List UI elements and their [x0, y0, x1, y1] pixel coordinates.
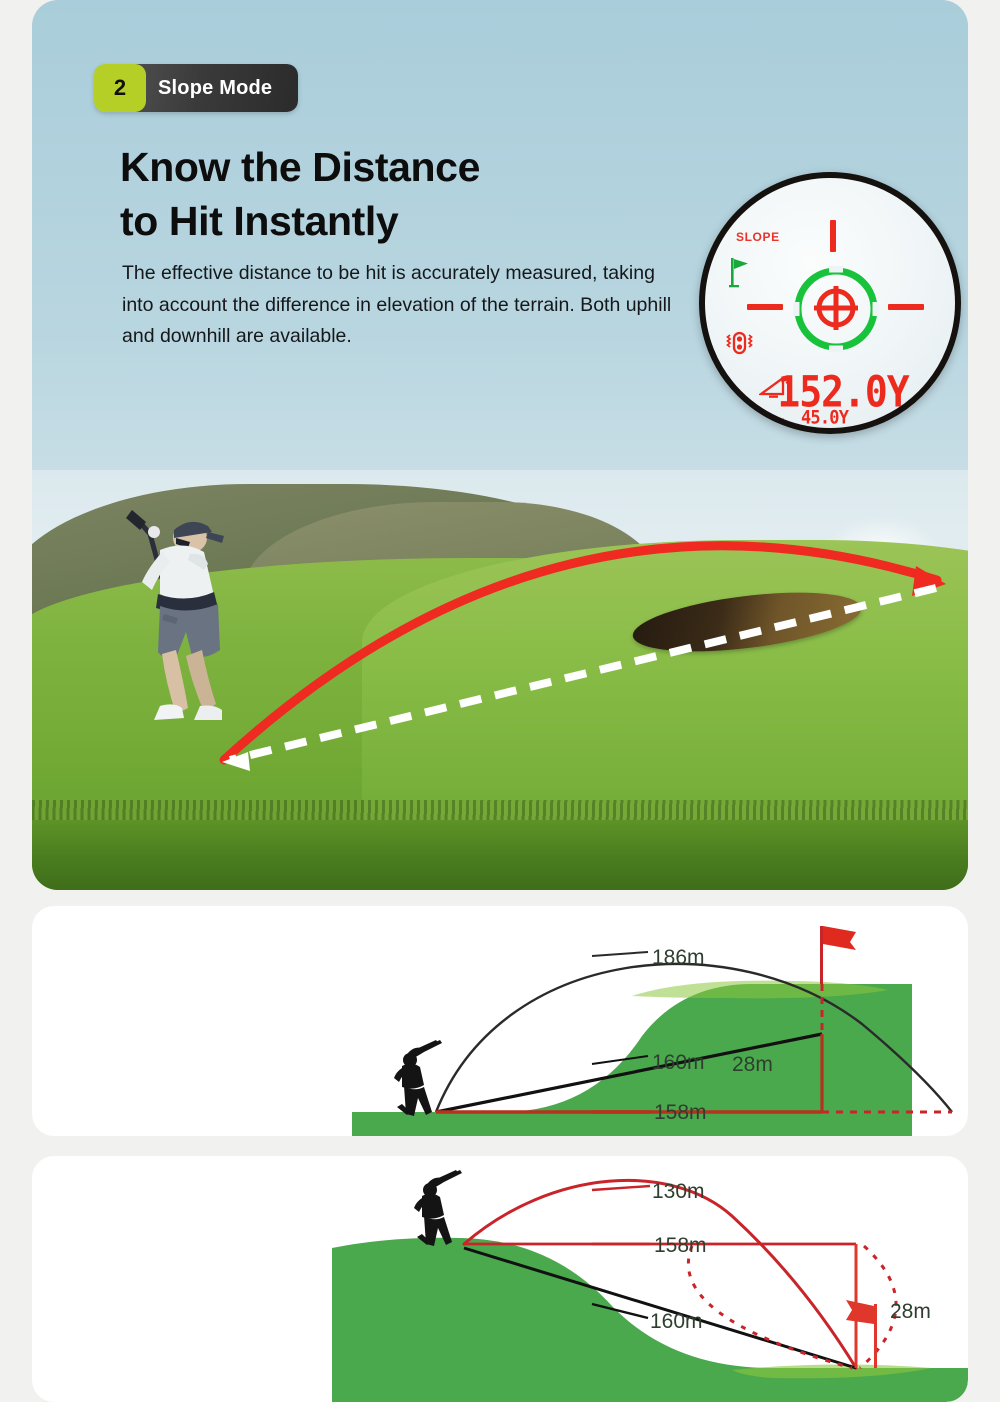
- downhill-label-130m: 130m: [652, 1180, 705, 1203]
- reticle-tick-left: [747, 304, 783, 310]
- ground-distance-line: [32, 470, 968, 890]
- uphill-label-160m: 160m: [652, 1051, 705, 1074]
- sub-reading-angle: 45.0Y: [801, 408, 858, 428]
- downhill-diagram: 130m 158m 160m 28m: [32, 1156, 968, 1402]
- downhill-label-28m: 28m: [890, 1300, 931, 1323]
- headline-line-2: to Hit Instantly: [120, 194, 480, 248]
- uphill-label-28m: 28m: [732, 1053, 773, 1076]
- body-description: The effective distance to be hit is accu…: [122, 258, 682, 353]
- page-title: Know the Distance to Hit Instantly: [120, 140, 480, 248]
- flag-icon: [729, 258, 755, 288]
- slope-mode-label: SLOPE: [736, 230, 780, 244]
- badge-step-number: 2: [94, 64, 146, 112]
- battery-icon: [725, 330, 753, 356]
- headline-line-1: Know the Distance: [120, 140, 480, 194]
- crosshair-icon: [810, 282, 862, 334]
- rangefinder-display: SLOPE: [699, 172, 961, 434]
- uphill-label-186m: 186m: [652, 946, 705, 969]
- hit-downhill-card: 130m 158m 160m 28m Hit Dowhill Hit 130m: [32, 1156, 968, 1402]
- uphill-pin-flag: [820, 926, 856, 984]
- reticle-tick-right: [888, 304, 924, 310]
- badge-label: Slope Mode: [136, 64, 298, 112]
- reticle-tick-top: [830, 220, 836, 252]
- sub-reading-horizontal: 130.0Y: [801, 428, 858, 434]
- uphill-diagram: 186m 160m 28m 158m: [32, 906, 968, 1136]
- uphill-label-158m: 158m: [654, 1101, 707, 1124]
- distance-reading-sub: 45.0Y 130.0Y: [801, 408, 858, 434]
- golf-course-photo: 152Yd 130Yd: [32, 470, 968, 890]
- hero-card: 2 Slope Mode Know the Distance to Hit In…: [32, 0, 968, 890]
- downhill-label-160m: 160m: [650, 1310, 703, 1333]
- divider-symbol: ÷: [779, 414, 787, 431]
- downhill-label-158m: 158m: [654, 1234, 707, 1257]
- hit-uphill-card: 186m 160m 28m 158m Hit Uphill Launch186m: [32, 906, 968, 1136]
- slope-mode-badge: 2 Slope Mode: [94, 64, 298, 112]
